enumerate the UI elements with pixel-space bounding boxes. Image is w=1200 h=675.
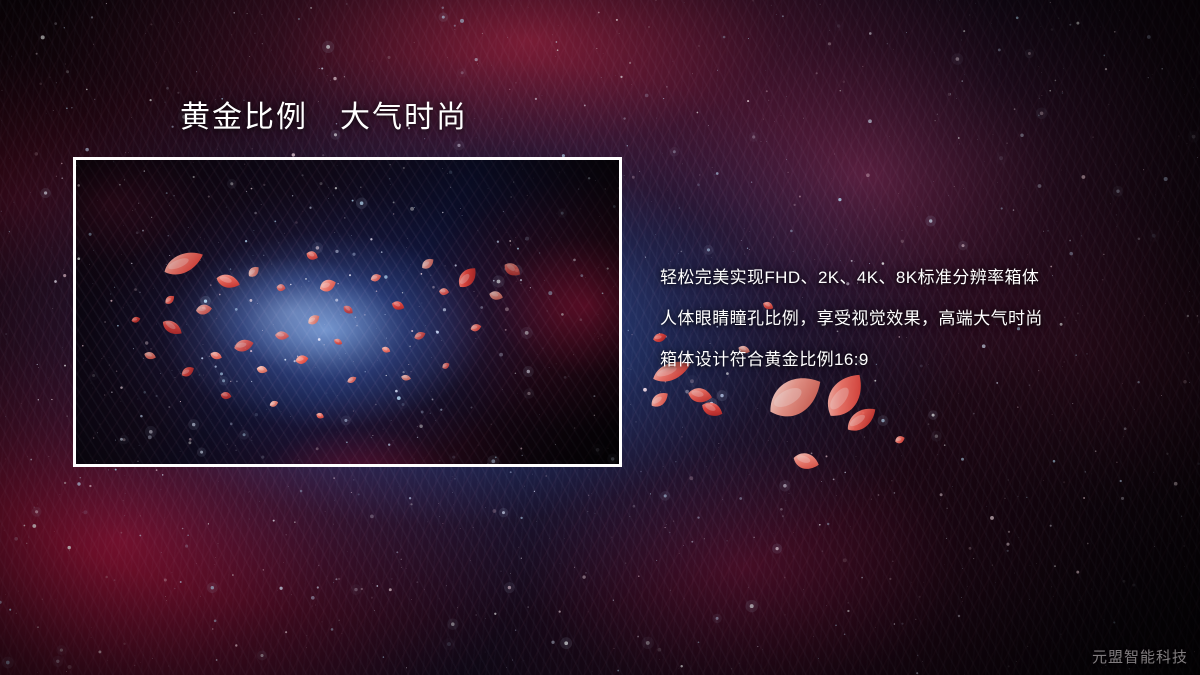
body-copy-line-1: 轻松完美实现FHD、2K、4K、8K标准分辨率箱体 xyxy=(660,257,1180,298)
body-copy-line-3: 箱体设计符合黄金比例16:9 xyxy=(660,339,1180,380)
presentation-slide: 黄金比例 大气时尚 轻松完美实现FHD、2K、4K、8K标准分辨率箱体 人体眼睛… xyxy=(0,0,1200,675)
page-title: 黄金比例 大气时尚 xyxy=(180,101,468,136)
body-copy: 轻松完美实现FHD、2K、4K、8K标准分辨率箱体 人体眼睛瞳孔比例，享受视觉效… xyxy=(660,257,1180,380)
watermark: 元盟智能科技 xyxy=(1092,646,1188,667)
body-copy-line-2: 人体眼睛瞳孔比例，享受视觉效果，高端大气时尚 xyxy=(660,298,1180,339)
frame-vignette xyxy=(76,160,619,464)
nebula-video-frame[interactable] xyxy=(73,157,622,467)
